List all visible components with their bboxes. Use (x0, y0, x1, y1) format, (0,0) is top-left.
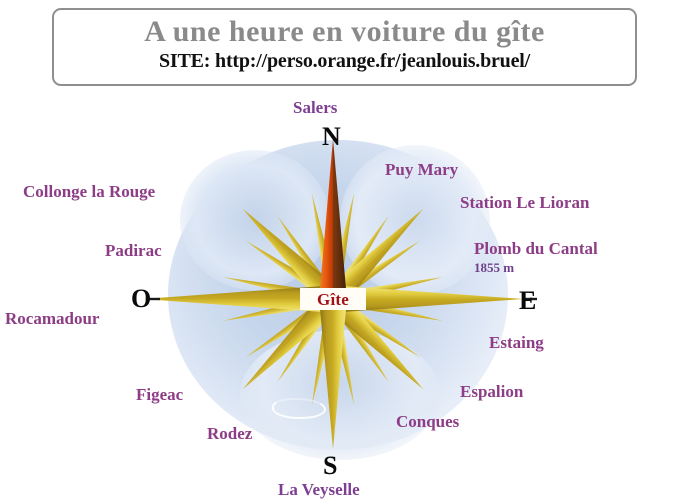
watermark-scribble (272, 398, 326, 419)
compass-map-page: Gîte N S E O Salers Puy Mary Station Le … (0, 0, 700, 500)
cardinal-ouest: O (131, 286, 151, 312)
place-label-padirac: Padirac (105, 242, 162, 260)
place-label-la-veyselle: La Veyselle (278, 481, 360, 499)
backdrop-cloud-northwest (180, 150, 330, 290)
site-url-line: SITE: http://perso.orange.fr/jeanlouis.b… (54, 48, 635, 73)
place-label-espalion: Espalion (460, 383, 523, 401)
place-label-estaing: Estaing (489, 334, 544, 352)
place-label-figeac: Figeac (136, 386, 183, 404)
page-title: A une heure en voiture du gîte (54, 10, 635, 48)
place-label-plomb-du-cantal: Plomb du Cantal (474, 240, 598, 258)
place-altitude-plomb-du-cantal: 1855 m (474, 261, 514, 275)
gite-center-plate: Gîte (300, 288, 366, 310)
backdrop-cloud-south (240, 330, 440, 460)
cardinal-east: E (519, 288, 536, 314)
place-label-rodez: Rodez (207, 425, 252, 443)
place-label-collonge-la-rouge: Collonge la Rouge (23, 183, 155, 201)
cardinal-south: S (323, 453, 337, 479)
header-banner: A une heure en voiture du gîte SITE: htt… (52, 8, 637, 86)
place-label-conques: Conques (396, 413, 459, 431)
place-label-salers: Salers (293, 99, 337, 117)
place-label-rocamadour: Rocamadour (5, 310, 99, 328)
place-label-station-le-lioran: Station Le Lioran (460, 194, 589, 212)
cardinal-north: N (322, 124, 341, 150)
compass-ray-south (320, 299, 346, 449)
place-label-puy-mary: Puy Mary (385, 161, 458, 179)
compass-ray-north (320, 139, 346, 299)
gite-label: Gîte (317, 291, 349, 308)
